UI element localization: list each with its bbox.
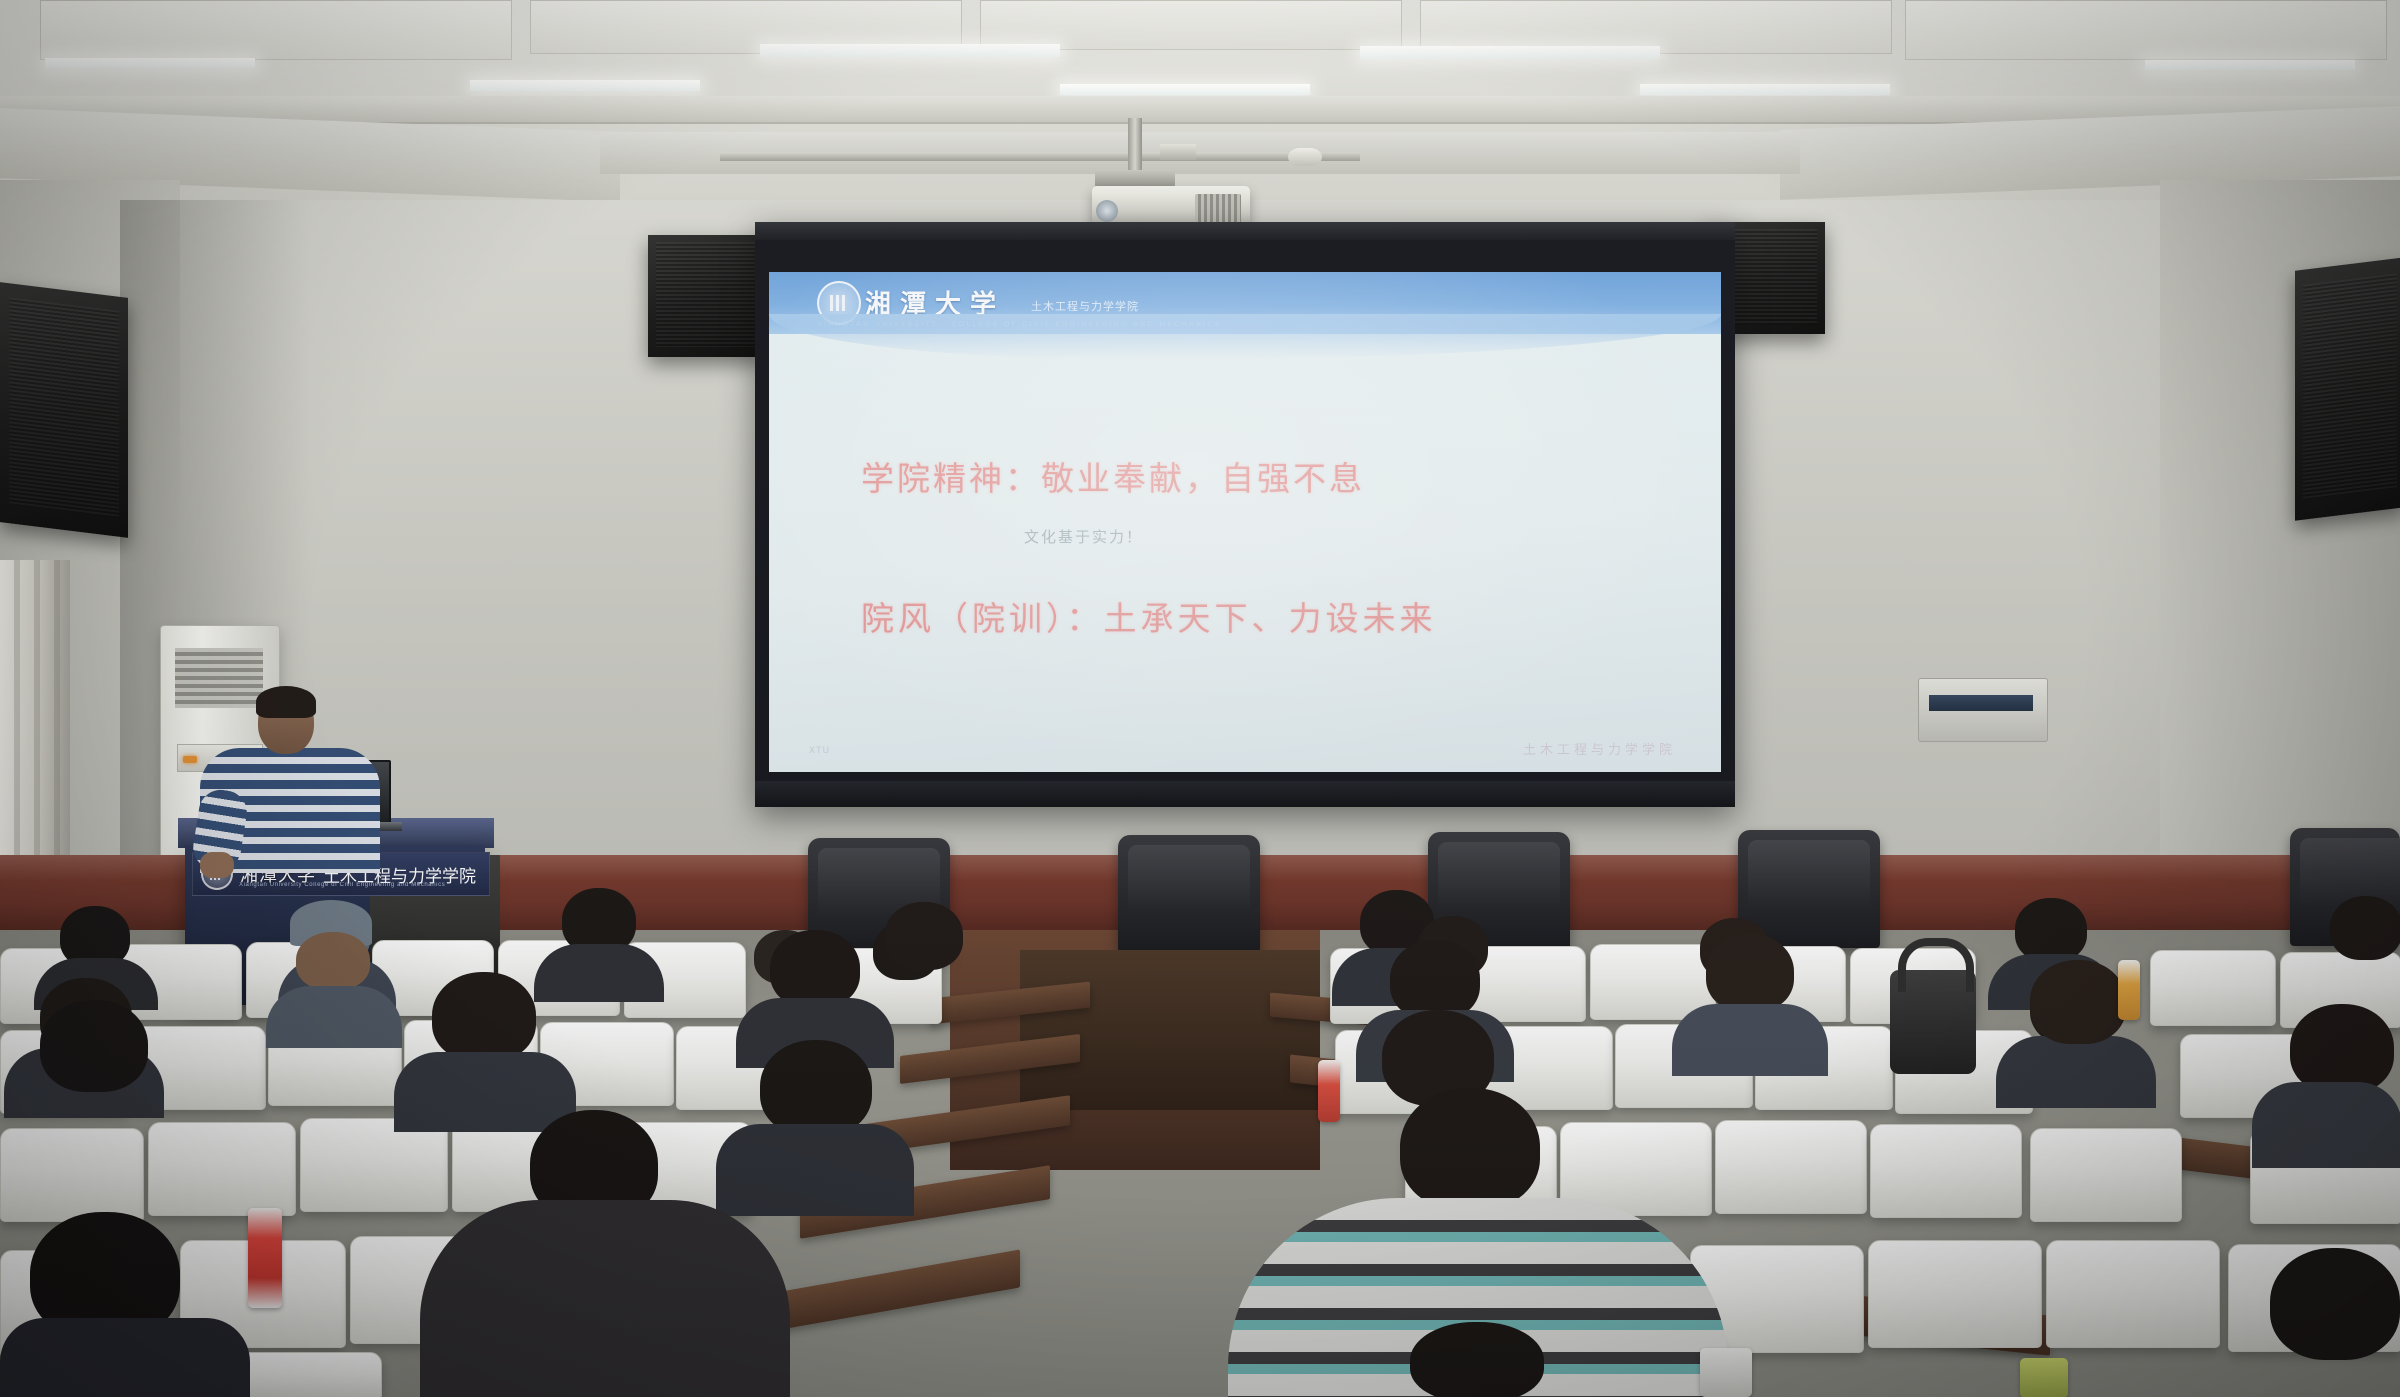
ceiling-conduit <box>720 152 1360 161</box>
thermos-cup[interactable] <box>2020 1358 2068 1397</box>
audience-member <box>2030 960 2126 1044</box>
wall-control-panel-icon[interactable] <box>1918 678 2048 742</box>
audience-member-shoulders <box>420 1200 790 1397</box>
speaker-grille <box>656 242 757 347</box>
thermos-cup[interactable] <box>1700 1348 1752 1397</box>
ceiling-light <box>1060 84 1310 95</box>
speaker-grille <box>9 298 119 518</box>
projection-screen: 湘潭大学 土木工程与力学学院 XIANGTAN UNIVERSITY · COL… <box>755 222 1735 807</box>
audience-member-shoulders <box>716 1124 914 1216</box>
ceiling-light <box>45 58 255 68</box>
loudspeaker-icon <box>0 282 128 538</box>
audience-member-shoulders <box>266 986 402 1048</box>
ceiling-light <box>2145 60 2355 70</box>
ceiling-panel <box>980 0 1402 50</box>
slide-footer-left: XTU <box>809 746 830 756</box>
slide-college-name: 土木工程与力学学院 <box>1031 298 1139 314</box>
audience-member <box>885 902 963 970</box>
loudspeaker-icon <box>2295 257 2400 521</box>
ac-power-led <box>183 756 197 763</box>
audience-member <box>432 972 536 1062</box>
slide-subtitle-line: 文化基于实力！ <box>1024 526 1143 547</box>
projector-lens-icon <box>1096 200 1118 222</box>
audience-member <box>40 1000 148 1092</box>
slide-surface: 湘潭大学 土木工程与力学学院 XIANGTAN UNIVERSITY · COL… <box>769 272 1721 772</box>
smoke-detector-icon <box>1288 148 1322 166</box>
auditorium-seat[interactable] <box>1868 1240 2042 1348</box>
auditorium-seat[interactable] <box>2150 950 2276 1026</box>
slide-motto-line: 院风（院训）：土承天下、力设未来 <box>861 592 1437 640</box>
auditorium-seat[interactable] <box>0 1128 144 1222</box>
backpack-strap <box>1898 938 1974 992</box>
audience-member-shoulders <box>2252 1082 2400 1168</box>
slide-header-banner: 湘潭大学 土木工程与力学学院 XIANGTAN UNIVERSITY · COL… <box>769 272 1721 334</box>
water-bottle[interactable] <box>2118 960 2140 1020</box>
audience-member-shoulders <box>1996 1036 2156 1108</box>
audience-member <box>770 930 860 1008</box>
ceiling-light <box>760 44 1060 57</box>
auditorium-seat[interactable] <box>148 1122 296 1216</box>
audience-member-shoulders <box>534 944 664 1002</box>
podium-english-name: Xiangtan University College of Civil Eng… <box>239 882 445 888</box>
audience-member <box>1706 934 1794 1012</box>
water-bottle[interactable] <box>1318 1060 1340 1122</box>
head-table <box>1020 950 1320 1110</box>
ceiling-light <box>1640 84 1890 95</box>
ceiling-panel <box>40 0 512 60</box>
speaker-grille <box>2303 273 2398 500</box>
auditorium-seat[interactable] <box>1870 1124 2022 1218</box>
audience-member <box>760 1040 872 1136</box>
audience-member <box>1400 1088 1540 1210</box>
ac-vent <box>175 648 263 708</box>
audience-member <box>2015 898 2087 962</box>
slide-body: 学院精神：敬业奉献，自强不息 文化基于实力！ 院风（院训）：土承天下、力设未来 <box>769 334 1721 772</box>
presenter-hair <box>256 686 316 718</box>
vip-chair[interactable] <box>1118 835 1260 953</box>
ceiling-panel <box>1905 0 2387 60</box>
auditorium-seat[interactable] <box>2030 1128 2182 1222</box>
auditorium-seat[interactable] <box>1715 1120 1867 1214</box>
audience-member <box>2290 1004 2394 1094</box>
audience-member <box>2330 896 2400 960</box>
audience-member-shoulders <box>394 1052 576 1132</box>
ceiling-light <box>1360 46 1660 59</box>
lecture-hall-photo: PROJECTOR 湘潭大学 土木工程与力学学院 XIANGTAN UNIVER… <box>0 0 2400 1397</box>
screen-roller <box>755 222 1735 240</box>
presenter-hand <box>200 852 234 878</box>
auditorium-seat[interactable] <box>2046 1240 2220 1348</box>
slide-footer-watermark: 土木工程与力学学院 <box>1523 739 1676 758</box>
screen-bottom-bar <box>755 781 1735 807</box>
slide-spirit-line: 学院精神：敬业奉献，自强不息 <box>861 452 1365 500</box>
audience-member-shoulders <box>0 1318 250 1397</box>
audience-member <box>1410 1322 1544 1397</box>
ceiling-light <box>470 80 700 91</box>
water-bottle[interactable] <box>248 1208 282 1308</box>
audience-member <box>2270 1248 2400 1360</box>
conduit-junction-box <box>1160 144 1196 160</box>
loudspeaker-icon <box>648 235 766 357</box>
audience-member-shoulders <box>1672 1004 1828 1076</box>
wall-control-display <box>1929 695 2033 711</box>
auditorium-seat[interactable] <box>300 1118 448 1212</box>
audience-member <box>296 932 370 990</box>
audience-member <box>1390 940 1480 1020</box>
